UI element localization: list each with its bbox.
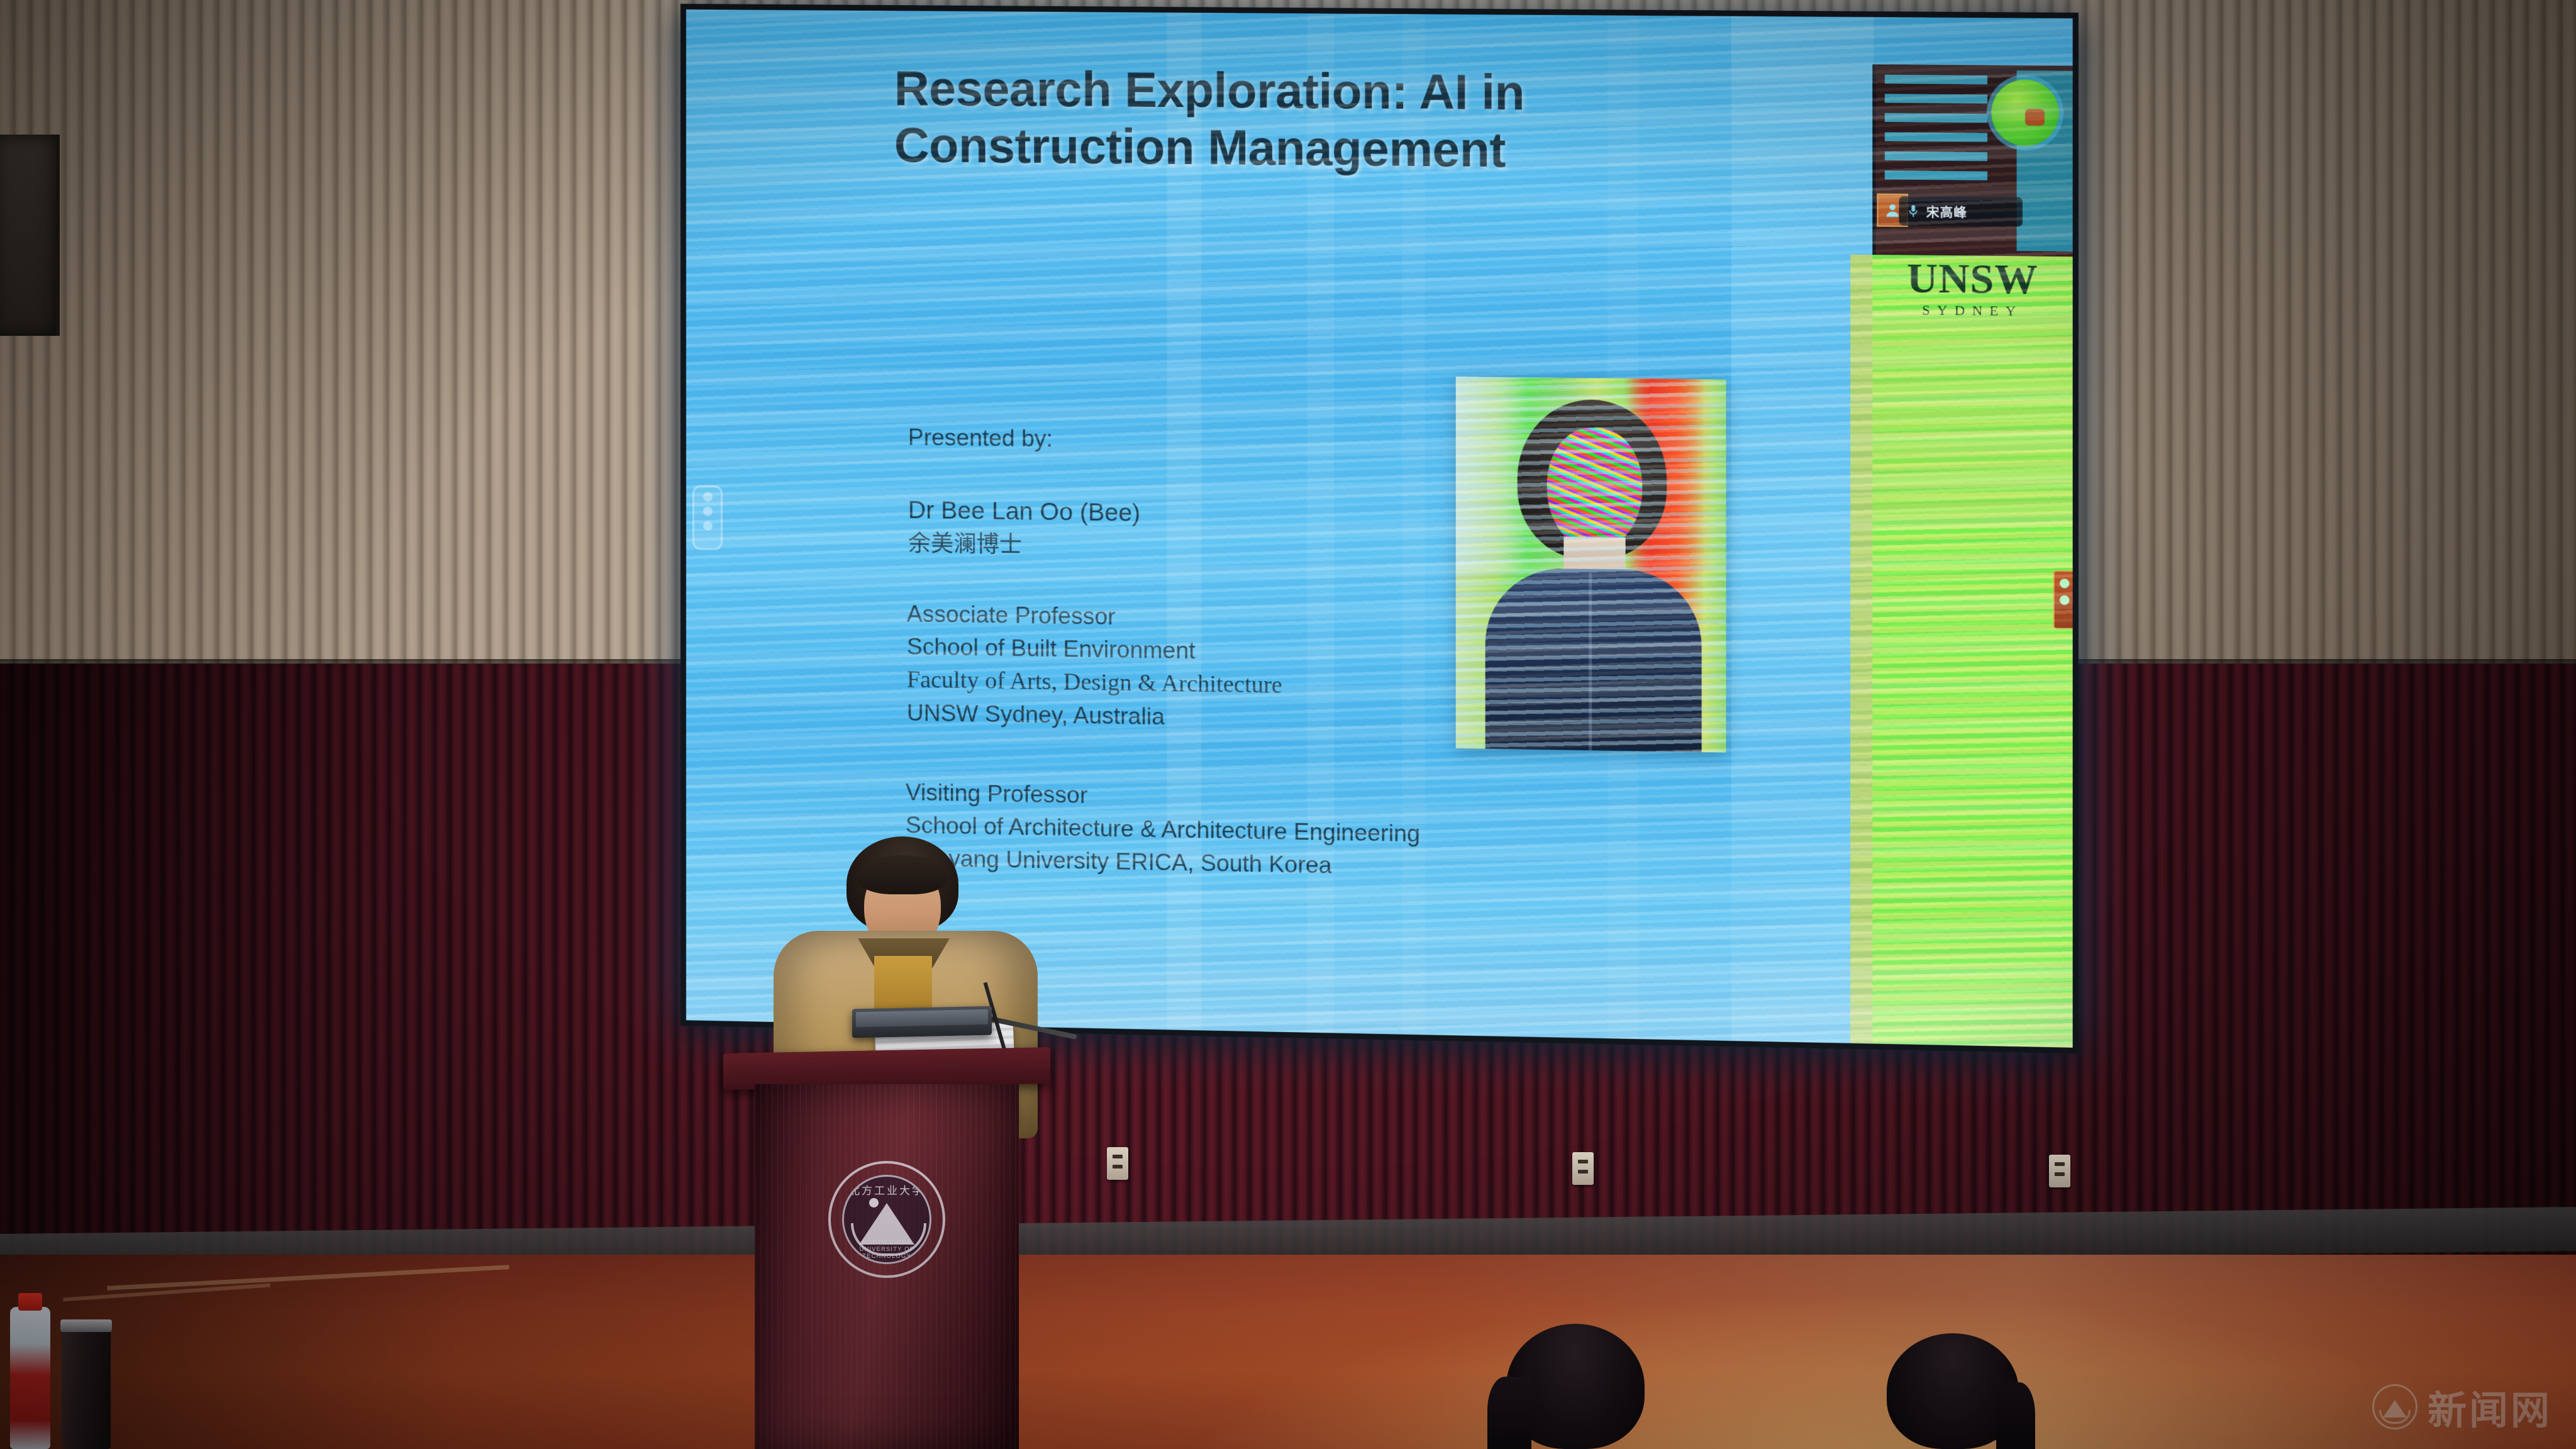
faculty-primary: Faculty of Arts, Design & Architecture <box>907 663 1282 702</box>
audience-head <box>1506 1324 1645 1449</box>
seal-text-en: NORTH CHINA UNIVERSITY OF TECHNOLOGY <box>844 1239 930 1260</box>
slide-title: Research Exploration: AI in Construction… <box>894 60 1841 182</box>
news-site-watermark: 新闻网 <box>2372 1379 2552 1435</box>
wall-outlet <box>1107 1147 1128 1180</box>
lecture-hall-scene: Research Exploration: AI in Construction… <box>0 0 2576 1449</box>
presenter-name-cn: 余美澜博士 <box>908 528 1140 562</box>
slide-right-panel: 宋高峰 UNSW SYDNEY <box>1872 17 2072 1048</box>
wall-outlet <box>2049 1155 2070 1187</box>
watermark-text: 新闻网 <box>2428 1379 2552 1435</box>
participant-name: 宋高峰 <box>1926 202 1967 221</box>
unsw-logo: UNSW SYDNEY <box>1872 258 2072 319</box>
school-primary: School of Built Environment <box>907 630 1282 669</box>
presented-by-label: Presented by: <box>908 424 1053 452</box>
role-primary: Associate Professor <box>907 597 1282 636</box>
wall-recess-panel <box>0 135 60 336</box>
unsw-brand-panel: UNSW SYDNEY <box>1872 255 2072 1048</box>
university-seal-icon <box>2372 1384 2418 1430</box>
primary-affiliation-block: Associate Professor School of Built Envi… <box>907 597 1282 735</box>
lectern-podium: 北方工业大学 NORTH CHINA UNIVERSITY OF TECHNOL… <box>723 1050 1050 1449</box>
wall-outlet <box>1572 1152 1594 1185</box>
audience-head <box>1887 1333 2019 1449</box>
participant-name-bar: 宋高峰 <box>1899 196 2023 227</box>
screen-edge-indicator <box>2053 570 2075 630</box>
unsw-logo-secondary: SYDNEY <box>1872 301 2072 320</box>
seal-text-cn: 北方工业大学 <box>844 1182 930 1197</box>
stage-floor-sheen <box>0 1255 2576 1449</box>
university-primary: UNSW Sydney, Australia <box>907 696 1282 735</box>
presenter-name-block: Dr Bee Lan Oo (Bee) 余美澜博士 <box>908 494 1140 562</box>
remote-participant-silhouette <box>1991 79 2059 147</box>
unsw-logo-primary: UNSW <box>1872 258 2072 301</box>
water-bottle <box>10 1307 50 1449</box>
vc-background-stripes <box>1885 75 1987 184</box>
screen-side-control[interactable] <box>692 485 723 550</box>
lectern-top <box>723 1047 1050 1090</box>
microphone-icon <box>1906 203 1921 219</box>
presenter-name-en: Dr Bee Lan Oo (Bee) <box>908 494 1140 531</box>
thermos-flask <box>62 1322 111 1449</box>
presenter-portrait-photo <box>1456 377 1726 753</box>
video-conference-tile[interactable]: 宋高峰 <box>1872 64 2072 258</box>
podium-laptop[interactable] <box>852 1006 992 1038</box>
university-seal-icon: 北方工业大学 NORTH CHINA UNIVERSITY OF TECHNOL… <box>828 1161 945 1278</box>
